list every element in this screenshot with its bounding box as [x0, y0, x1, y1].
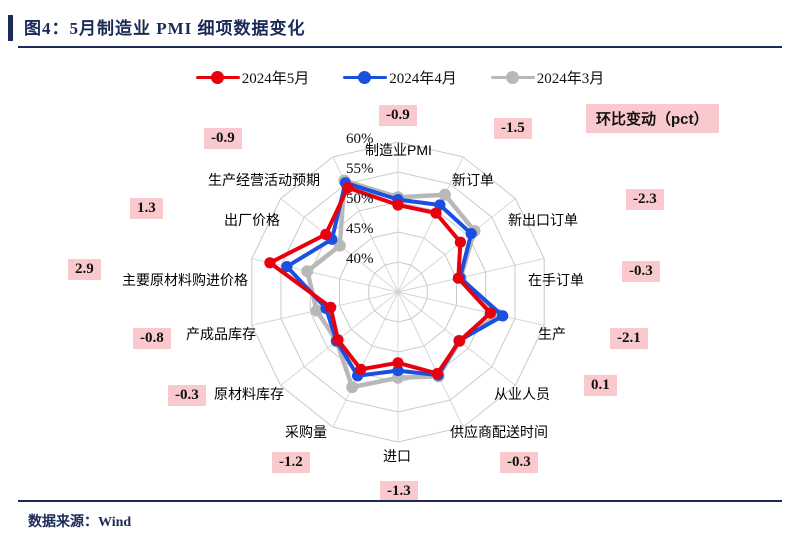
delta-chip-output-prices: 1.3 — [130, 198, 163, 219]
axis-label-output-prices: 出厂价格 — [224, 210, 280, 230]
axis-label-employment: 从业人员 — [494, 384, 550, 404]
title-accent-bar — [8, 15, 13, 41]
figure-header: 图4：5月制造业 PMI 细项数据变化 — [0, 14, 800, 48]
delta-chip-production: -2.1 — [610, 328, 648, 349]
legend-swatch-april — [343, 70, 387, 84]
axis-label-raw-material-inventory: 原材料库存 — [214, 384, 284, 404]
axis-label-production: 生产 — [538, 324, 566, 344]
header-divider — [18, 46, 782, 48]
radial-tick-40: 40% — [346, 251, 374, 268]
legend-swatch-may — [196, 70, 240, 84]
radar-data-point — [497, 310, 508, 321]
delta-legend-chip: 环比变动（pct） — [586, 104, 719, 133]
delta-chip-employment: 0.1 — [584, 375, 617, 396]
axis-label-new-orders: 新订单 — [452, 170, 494, 190]
axis-label-manufacturing-pmi: 制造业PMI — [365, 140, 432, 160]
radar-data-point — [453, 273, 464, 284]
radar-data-point — [355, 364, 366, 375]
radar-data-point — [301, 265, 313, 277]
legend-label-march: 2024年3月 — [537, 67, 605, 88]
radar-data-point — [332, 334, 343, 345]
axis-label-supplier-delivery-time: 供应商配送时间 — [450, 422, 548, 442]
radar-data-point — [392, 199, 403, 210]
delta-chip-backlog-orders: -0.3 — [622, 261, 660, 282]
delta-chip-imports: -1.3 — [380, 481, 418, 502]
radar-data-point — [320, 229, 331, 240]
radar-data-point — [466, 228, 477, 239]
delta-chip-purchase-volume: -1.2 — [272, 452, 310, 473]
legend-item-may[interactable]: 2024年5月 — [196, 67, 310, 88]
source-note: 数据来源：Wind — [28, 511, 131, 531]
axis-label-backlog-orders: 在手订单 — [528, 270, 584, 290]
radar-data-point — [454, 335, 465, 346]
delta-chip-new-export-orders: -2.3 — [626, 189, 664, 210]
delta-chip-supplier-delivery-time: -0.3 — [500, 452, 538, 473]
figure-panel: 图4：5月制造业 PMI 细项数据变化 2024年5月 2024年4月 2024… — [0, 0, 800, 546]
radar-data-point — [439, 189, 451, 201]
radar-chart: 40% 45% 50% 55% 60% 制造业PMI 新订单 新出口订单 在手订… — [0, 92, 800, 496]
footer-divider — [18, 500, 782, 502]
radar-data-point — [432, 368, 443, 379]
axis-label-new-export-orders: 新出口订单 — [508, 210, 578, 230]
axis-label-purchase-volume: 采购量 — [285, 422, 327, 442]
axis-label-business-expectations: 生产经营活动预期 — [208, 170, 320, 190]
delta-chip-input-prices: 2.9 — [68, 259, 101, 280]
axis-label-imports: 进口 — [383, 446, 411, 466]
radar-data-point — [455, 237, 466, 248]
radial-tick-55: 55% — [346, 161, 374, 178]
legend-label-may: 2024年5月 — [242, 67, 310, 88]
legend-item-march[interactable]: 2024年3月 — [491, 67, 605, 88]
delta-chip-business-expectations: -0.9 — [204, 128, 242, 149]
radar-data-point — [485, 308, 496, 319]
legend-swatch-march — [491, 70, 535, 84]
axis-label-input-prices: 主要原材料购进价格 — [122, 270, 248, 290]
radar-data-point — [346, 381, 358, 393]
radar-data-point — [325, 302, 336, 313]
legend-item-april[interactable]: 2024年4月 — [343, 67, 457, 88]
delta-chip-finished-goods-inventory: -0.8 — [133, 328, 171, 349]
delta-chip-new-orders: -1.5 — [494, 118, 532, 139]
legend-label-april: 2024年4月 — [389, 67, 457, 88]
page-title: 图4：5月制造业 PMI 细项数据变化 — [24, 14, 306, 39]
radar-data-point — [264, 257, 275, 268]
radial-tick-45: 45% — [346, 221, 374, 238]
radar-data-point — [430, 208, 441, 219]
radial-tick-50: 50% — [346, 191, 374, 208]
delta-chip-raw-material-inventory: -0.3 — [168, 385, 206, 406]
radar-data-point — [392, 357, 403, 368]
radar-polygon — [287, 183, 503, 376]
axis-label-finished-goods-inventory: 产成品库存 — [186, 324, 256, 344]
series-legend: 2024年5月 2024年4月 2024年3月 — [0, 64, 800, 90]
delta-chip-manufacturing-pmi: -0.9 — [379, 105, 417, 126]
